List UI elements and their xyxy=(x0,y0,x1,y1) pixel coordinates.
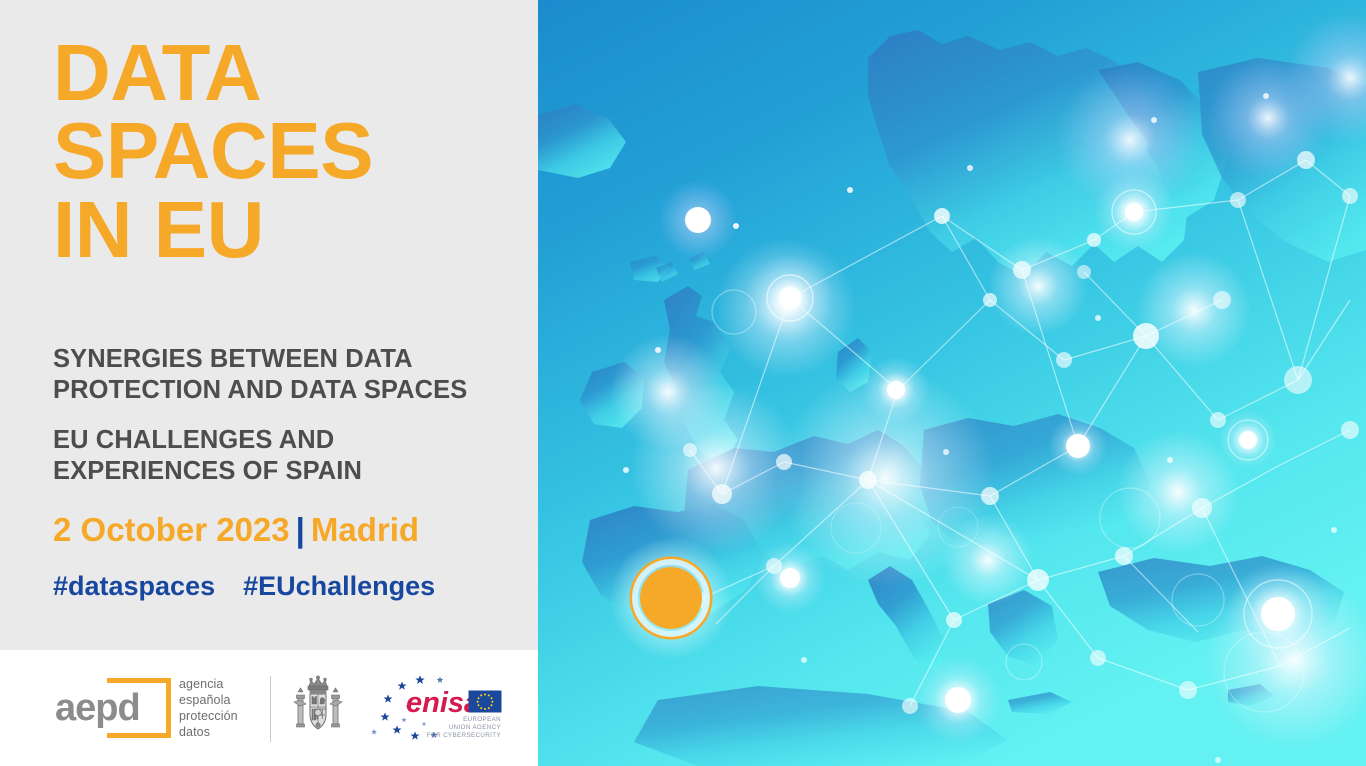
hashtag-euchallenges[interactable]: #EUchallenges xyxy=(243,571,435,601)
subtitle-secondary: EU CHALLENGES AND EXPERIENCES OF SPAIN xyxy=(53,425,513,487)
event-location: Madrid xyxy=(311,511,419,548)
enisa-tagline-line-3: FOR CYBERSECURITY xyxy=(427,732,501,739)
enisa-tagline-line-2: UNION AGENCY xyxy=(449,724,501,731)
enisa-logo[interactable]: enisa xyxy=(372,672,517,744)
madrid-location-marker xyxy=(609,536,733,660)
eu-flag-icon xyxy=(469,691,501,712)
title-line-1: DATA xyxy=(53,34,523,112)
hashtag-group: #dataspaces#EUchallenges xyxy=(53,571,523,602)
aepd-text-line-2: española xyxy=(179,692,238,708)
subtitle-primary: SYNERGIES BETWEEN DATA PROTECTION AND DA… xyxy=(53,344,513,406)
title-line-3: IN EU xyxy=(53,191,523,269)
content-panel: DATA SPACES IN EU SYNERGIES BETWEEN DATA… xyxy=(0,0,538,766)
title-line-2: SPACES xyxy=(53,112,523,190)
date-location-separator: | xyxy=(290,511,311,548)
hashtag-dataspaces[interactable]: #dataspaces xyxy=(53,571,215,601)
spanish-coat-of-arms-icon xyxy=(292,674,344,744)
enisa-tagline-line-1: EUROPEAN xyxy=(463,716,501,723)
aepd-text-line-3: protección xyxy=(179,708,238,724)
aepd-text-line-4: datos xyxy=(179,724,238,740)
enisa-logo-graphic: enisa xyxy=(372,672,517,744)
event-date-location: 2 October 2023|Madrid xyxy=(53,511,523,549)
aepd-logo-mark: aepd xyxy=(55,672,173,744)
map-graphic xyxy=(538,0,1366,766)
page-title: DATA SPACES IN EU xyxy=(53,34,523,269)
logo-divider xyxy=(270,676,271,742)
europe-network-map xyxy=(538,0,1366,766)
event-banner: DATA SPACES IN EU SYNERGIES BETWEEN DATA… xyxy=(0,0,1366,766)
aepd-logo[interactable]: aepd agencia española protección datos xyxy=(55,672,238,744)
aepd-logo-text: agencia española protección datos xyxy=(179,676,238,741)
aepd-wordmark: aepd xyxy=(55,689,173,727)
event-date: 2 October 2023 xyxy=(53,511,290,548)
aepd-text-line-1: agencia xyxy=(179,676,238,692)
